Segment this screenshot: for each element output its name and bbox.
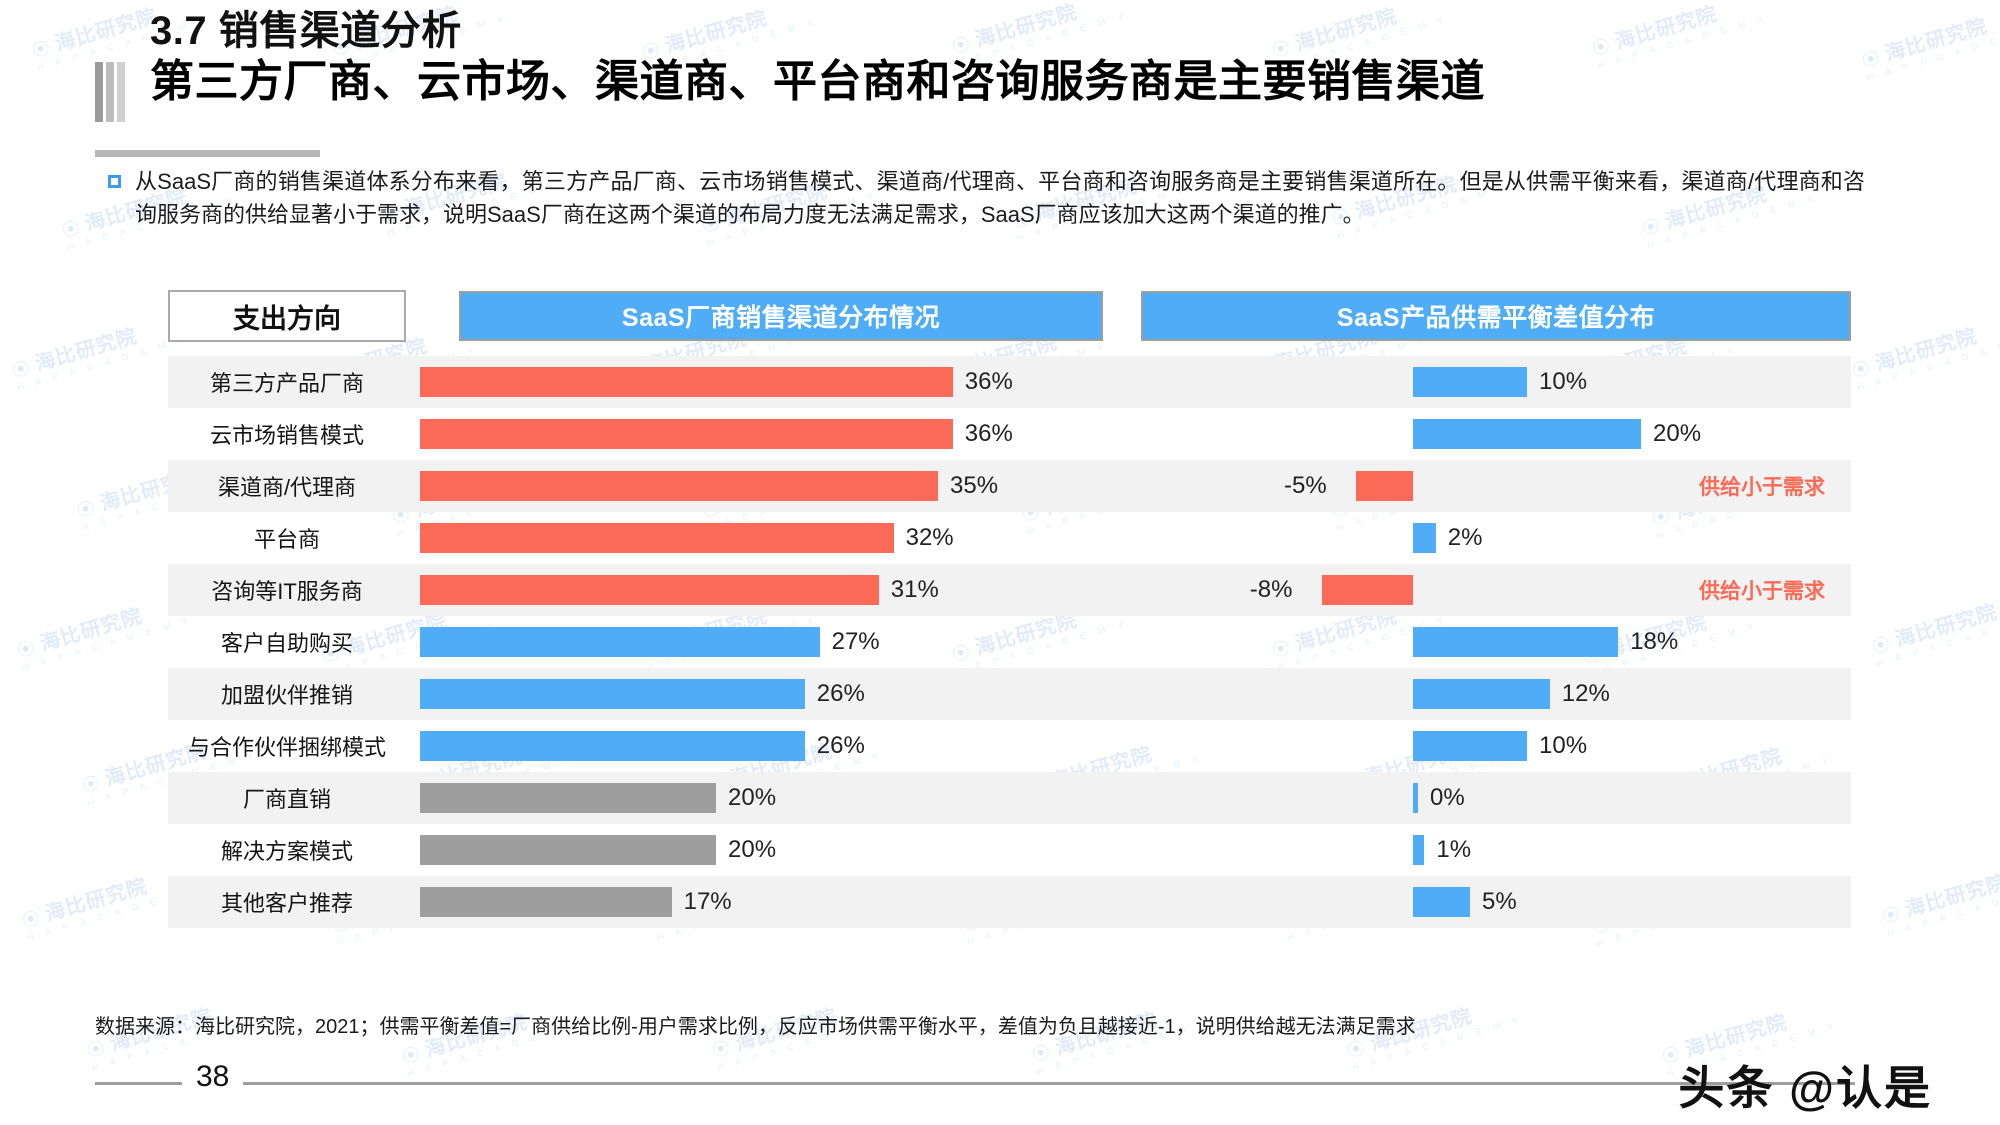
header-right-chart: SaaS产品供需平衡差值分布 [1141,291,1851,341]
right-chart-cell: 2% [1142,512,1851,564]
page-kicker: 3.7 销售渠道分析 [150,8,1850,54]
table-row: 平台商32%2% [168,512,1851,564]
right-chart-cell: -5%供给小于需求 [1142,460,1851,512]
left-bar-value: 32% [906,524,954,552]
footer-rule [95,1082,1855,1085]
right-bar-value: 10% [1539,732,1587,760]
right-chart-cell: 20% [1142,408,1851,460]
left-bar-value: 20% [728,784,776,812]
left-bar-value: 26% [817,732,865,760]
right-bar-value: 10% [1539,368,1587,396]
header-left-chart: SaaS厂商销售渠道分布情况 [459,291,1103,341]
right-bar [1413,783,1418,813]
right-bar [1413,367,1527,397]
summary-text: 从SaaS厂商的销售渠道体系分布来看，第三方产品厂商、云市场销售模式、渠道商/代… [135,165,1865,232]
right-bar-value: 18% [1630,628,1678,656]
right-bar [1413,731,1527,761]
left-chart-cell: 35% [420,460,1120,512]
page-header: 3.7 销售渠道分析 第三方厂商、云市场、渠道商、平台商和咨询服务商是主要销售渠… [150,8,1850,108]
right-bar-value: 12% [1562,680,1610,708]
right-bar [1413,419,1641,449]
right-chart-cell: 18% [1142,616,1851,668]
right-bar [1413,887,1470,917]
table-row: 云市场销售模式36%20% [168,408,1851,460]
left-chart-cell: 17% [420,876,1120,928]
table-row: 解决方案模式20%1% [168,824,1851,876]
left-chart-cell: 32% [420,512,1120,564]
page-title: 第三方厂商、云市场、渠道商、平台商和咨询服务商是主要销售渠道 [150,56,1850,108]
left-bar [420,731,805,761]
table-body: 第三方产品厂商36%10%云市场销售模式36%20%渠道商/代理商35%-5%供… [168,356,1851,928]
header-label-column: 支出方向 [168,290,406,342]
title-underline [95,150,320,157]
left-chart-cell: 26% [420,668,1120,720]
right-bar [1322,575,1413,605]
right-bar [1413,523,1436,553]
left-bar [420,419,953,449]
left-chart-cell: 20% [420,772,1120,824]
right-chart-cell: 10% [1142,356,1851,408]
brand-watermark: 头条 @认是 [1678,1052,1932,1118]
table-row: 渠道商/代理商35%-5%供给小于需求 [168,460,1851,512]
left-chart-cell: 31% [420,564,1120,616]
left-bar [420,471,938,501]
right-chart-cell: 0% [1142,772,1851,824]
left-bar [420,679,805,709]
left-bar [420,523,894,553]
left-bar-value: 27% [832,628,880,656]
left-bar [420,367,953,397]
table-row: 厂商直销20%0% [168,772,1851,824]
right-chart-cell: -8%供给小于需求 [1142,564,1851,616]
row-label: 客户自助购买 [168,626,406,658]
table-row: 其他客户推荐17%5% [168,876,1851,928]
right-chart-cell: 5% [1142,876,1851,928]
row-label: 与合作伙伴捆绑模式 [168,730,406,762]
supply-shortage-note: 供给小于需求 [1699,471,1825,501]
left-chart-cell: 36% [420,408,1120,460]
right-bar-value: 2% [1448,524,1483,552]
right-bar-value: 0% [1430,784,1465,812]
left-bar-value: 36% [965,368,1013,396]
source-note: 数据来源：海比研究院，2021；供需平衡差值=厂商供给比例-用户需求比例，反应市… [95,1010,1895,1039]
right-bar-value: 20% [1653,420,1701,448]
left-bar [420,835,716,865]
table-header-row: 支出方向 SaaS厂商销售渠道分布情况 SaaS产品供需平衡差值分布 [168,290,1851,342]
right-chart-cell: 1% [1142,824,1851,876]
row-label: 其他客户推荐 [168,886,406,918]
bullet-square-icon [108,175,121,188]
row-label: 平台商 [168,522,406,554]
left-chart-cell: 36% [420,356,1120,408]
channel-table: 支出方向 SaaS厂商销售渠道分布情况 SaaS产品供需平衡差值分布 第三方产品… [168,290,1851,928]
row-label: 咨询等IT服务商 [168,574,406,606]
slide-page: 3.7 销售渠道分析 第三方厂商、云市场、渠道商、平台商和咨询服务商是主要销售渠… [0,0,2000,1125]
left-chart-cell: 27% [420,616,1120,668]
left-bar [420,575,879,605]
row-label: 加盟伙伴推销 [168,678,406,710]
page-number: 38 [182,1060,243,1094]
table-row: 客户自助购买27%18% [168,616,1851,668]
row-label: 厂商直销 [168,782,406,814]
supply-shortage-note: 供给小于需求 [1699,575,1825,605]
left-bar-value: 35% [950,472,998,500]
row-label: 第三方产品厂商 [168,366,406,398]
right-chart-cell: 12% [1142,668,1851,720]
left-chart-cell: 26% [420,720,1120,772]
left-bar [420,887,672,917]
right-bar [1413,627,1618,657]
summary-bullet: 从SaaS厂商的销售渠道体系分布来看，第三方产品厂商、云市场销售模式、渠道商/代… [108,165,1868,232]
title-accent-bar [95,62,129,122]
left-bar [420,783,716,813]
right-chart-cell: 10% [1142,720,1851,772]
right-bar [1413,679,1550,709]
table-row: 第三方产品厂商36%10% [168,356,1851,408]
table-row: 咨询等IT服务商31%-8%供给小于需求 [168,564,1851,616]
row-label: 云市场销售模式 [168,418,406,450]
left-bar-value: 20% [728,836,776,864]
left-bar-value: 31% [891,576,939,604]
right-bar [1413,835,1424,865]
left-bar-value: 36% [965,420,1013,448]
right-bar-value: 1% [1436,836,1471,864]
table-row: 加盟伙伴推销26%12% [168,668,1851,720]
right-bar-value: -5% [1284,472,1327,500]
table-row: 与合作伙伴捆绑模式26%10% [168,720,1851,772]
right-bar-value: 5% [1482,888,1517,916]
left-bar [420,627,820,657]
row-label: 解决方案模式 [168,834,406,866]
left-chart-cell: 20% [420,824,1120,876]
right-bar-value: -8% [1250,576,1293,604]
row-label: 渠道商/代理商 [168,470,406,502]
left-bar-value: 17% [684,888,732,916]
right-bar [1356,471,1413,501]
left-bar-value: 26% [817,680,865,708]
